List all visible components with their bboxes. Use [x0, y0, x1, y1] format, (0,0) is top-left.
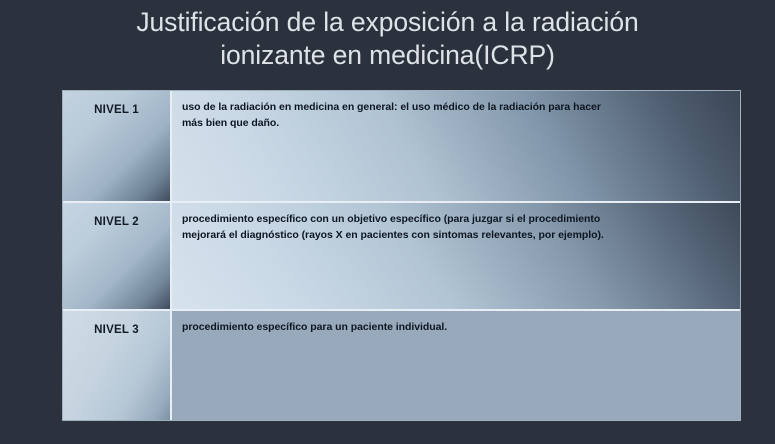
table-cell-level-label: NIVEL 2 — [63, 203, 172, 309]
table-cell-description: procedimiento específico con un objetivo… — [172, 203, 740, 309]
table-cell-description: uso de la radiación en medicina en gener… — [172, 91, 740, 201]
table-row: NIVEL 2 procedimiento específico con un … — [63, 201, 740, 309]
table-row: NIVEL 1 uso de la radiación en medicina … — [63, 91, 740, 201]
table-cell-description: procedimiento específico para un pacient… — [172, 311, 740, 420]
level-label-text: NIVEL 1 — [94, 104, 139, 116]
description-text: uso de la radiación en medicina en gener… — [182, 100, 727, 131]
description-text: procedimiento específico para un pacient… — [182, 320, 727, 336]
level-label-text: NIVEL 3 — [94, 324, 139, 336]
table-cell-level-label: NIVEL 3 — [63, 311, 172, 420]
table-cell-level-label: NIVEL 1 — [63, 91, 172, 201]
presentation-slide: Justificación de la exposición a la radi… — [0, 0, 775, 444]
levels-table: NIVEL 1 uso de la radiación en medicina … — [62, 90, 741, 421]
level-label-text: NIVEL 2 — [94, 216, 139, 228]
page-title: Justificación de la exposición a la radi… — [0, 6, 775, 72]
table-row: NIVEL 3 procedimiento específico para un… — [63, 309, 740, 420]
description-text: procedimiento específico con un objetivo… — [182, 212, 727, 243]
